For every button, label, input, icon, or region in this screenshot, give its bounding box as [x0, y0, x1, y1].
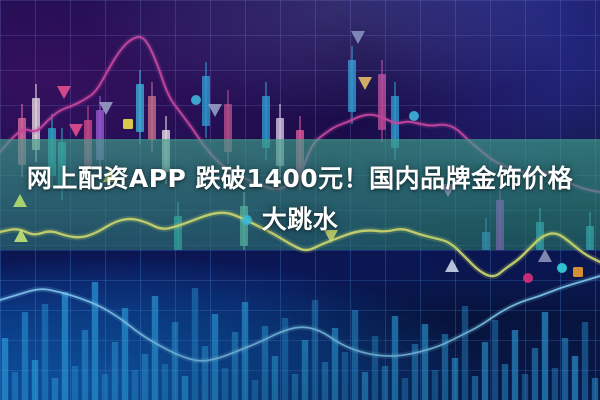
up-triangle-gray-marker — [538, 249, 552, 262]
banner-image: 网上配资APP 跌破1400元！国内品牌金饰价格 大跳水 — [0, 0, 600, 400]
dot-magenta-marker — [523, 273, 533, 283]
up-triangle-white-marker — [445, 259, 459, 272]
headline-line-2: 大跳水 — [0, 199, 600, 240]
headline-line-1: 网上配资APP 跌破1400元！国内品牌金饰价格 — [0, 158, 600, 199]
dot-cyan-marker — [557, 263, 567, 273]
headline: 网上配资APP 跌破1400元！国内品牌金饰价格 大跳水 — [0, 158, 600, 240]
square-orange-marker — [573, 267, 583, 277]
